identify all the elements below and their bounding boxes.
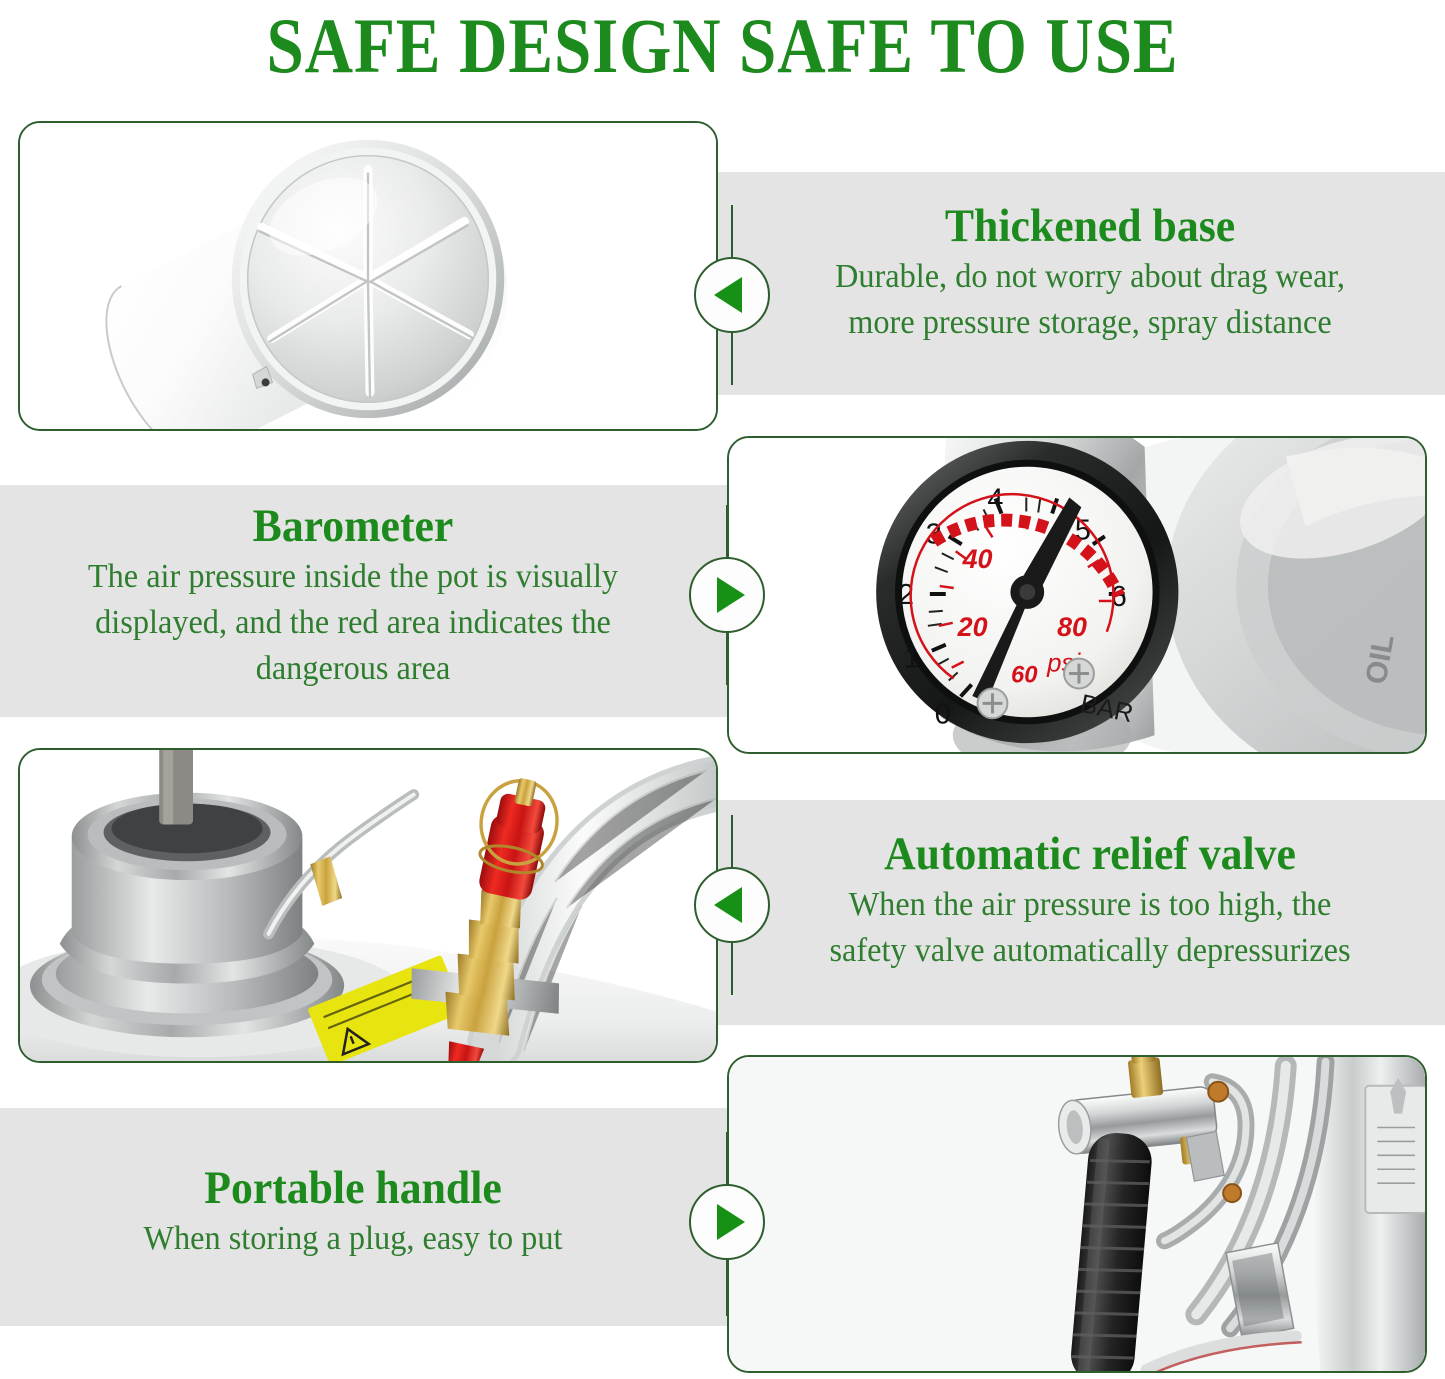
connector-line [726, 1132, 728, 1184]
feature-description-line: When storing a plug, easy to put [25, 1216, 681, 1262]
feature-description-line: displayed, and the red area indicates th… [25, 600, 681, 646]
feature-image-portable-handle [727, 1055, 1427, 1373]
feature-heading: Thickened base [769, 198, 1411, 254]
connector-line [726, 1260, 728, 1316]
arrow-left-icon [714, 277, 742, 313]
feature-image-thickened-base [18, 121, 718, 431]
feature-description-line: more pressure storage, spray distance [762, 300, 1418, 346]
feature-text-portable-handle: Portable handle When storing a plug, eas… [8, 1160, 698, 1262]
connector-line [726, 505, 728, 557]
barometer-gauge-illustration: OIL 0 1 2 3 4 5 6 [729, 438, 1425, 752]
pressure-pot-base-illustration [20, 123, 716, 429]
svg-text:20: 20 [957, 612, 988, 642]
feature-description-line: safety valve automatically depressurizes [762, 928, 1418, 974]
connector-line [731, 333, 733, 385]
svg-text:0: 0 [935, 698, 951, 730]
feature-heading: Automatic relief valve [769, 826, 1411, 882]
feature-arrow-barometer [689, 557, 765, 633]
feature-arrow-relief-valve [694, 867, 770, 943]
arrow-right-icon [717, 1204, 745, 1240]
relief-valve-illustration [20, 750, 716, 1061]
feature-description-line: dangerous area [25, 646, 681, 692]
connector-line [731, 815, 733, 867]
feature-image-relief-valve [18, 748, 718, 1063]
svg-text:4: 4 [987, 483, 1003, 515]
svg-text:80: 80 [1057, 612, 1087, 642]
feature-heading: Barometer [32, 498, 674, 554]
spray-gun-handle-illustration [729, 1057, 1425, 1371]
feature-description-line: Durable, do not worry about drag wear, [762, 254, 1418, 300]
feature-description-line: The air pressure inside the pot is visua… [25, 554, 681, 600]
svg-text:40: 40 [962, 544, 993, 574]
feature-text-thickened-base: Thickened base Durable, do not worry abo… [745, 198, 1435, 346]
feature-description-line: When the air pressure is too high, the [762, 882, 1418, 928]
feature-heading: Portable handle [32, 1160, 674, 1216]
feature-text-barometer: Barometer The air pressure inside the po… [8, 498, 698, 692]
connector-line [731, 943, 733, 995]
feature-image-barometer: OIL 0 1 2 3 4 5 6 [727, 436, 1427, 754]
feature-arrow-portable-handle [689, 1184, 765, 1260]
page-title: SAFE DESIGN SAFE TO USE [101, 2, 1344, 90]
arrow-left-icon [714, 887, 742, 923]
connector-line [726, 633, 728, 685]
connector-line [731, 205, 733, 257]
svg-text:60: 60 [1011, 661, 1038, 688]
feature-arrow-thickened-base [694, 257, 770, 333]
feature-text-relief-valve: Automatic relief valve When the air pres… [745, 826, 1435, 974]
arrow-right-icon [717, 577, 745, 613]
svg-text:1: 1 [904, 643, 920, 675]
